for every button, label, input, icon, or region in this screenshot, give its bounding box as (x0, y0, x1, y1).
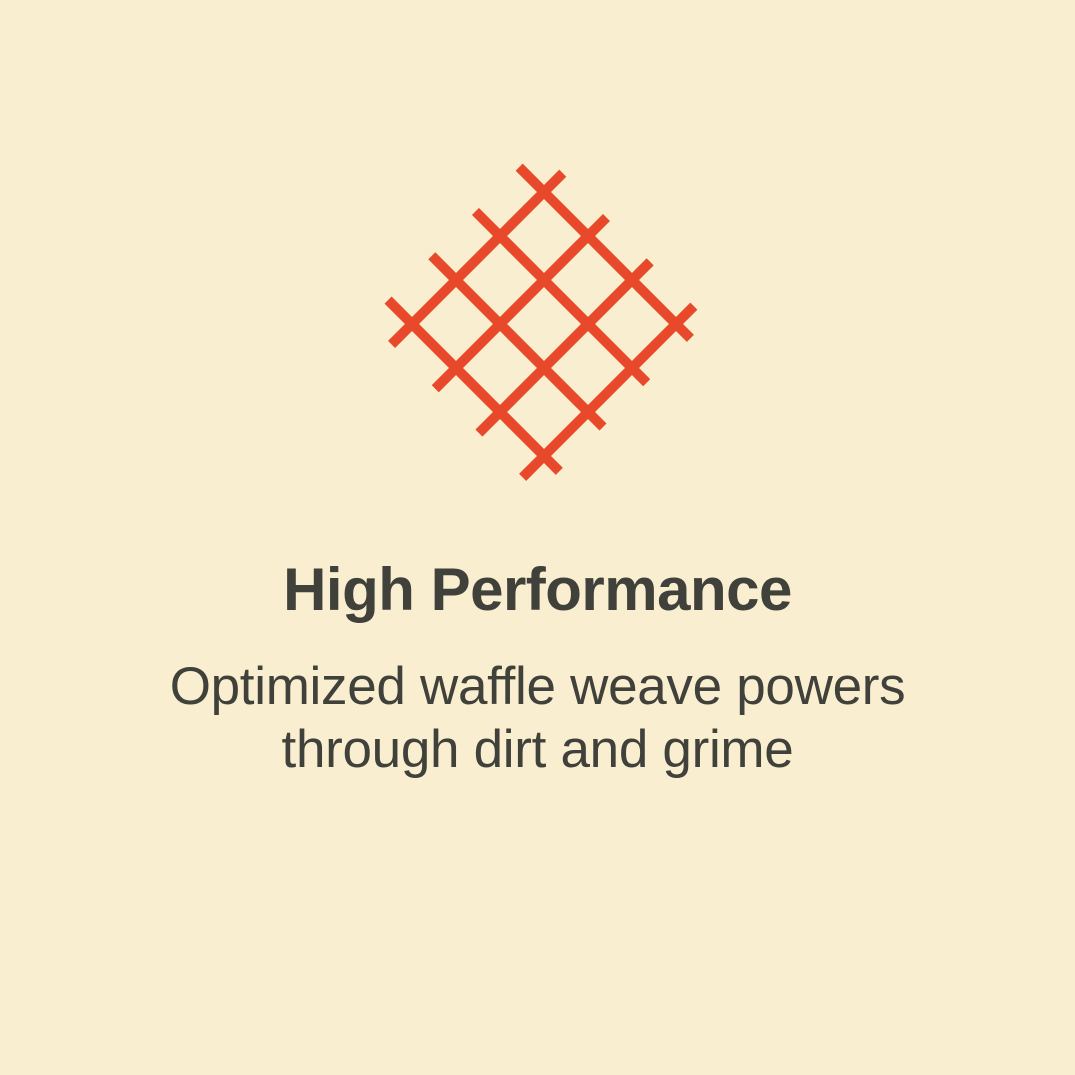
feature-subtitle: Optimized waffle weave powers through di… (123, 656, 953, 781)
waffle-weave-icon (368, 148, 708, 493)
feature-card: High Performance Optimized waffle weave … (0, 0, 1075, 1075)
feature-title: High Performance (283, 560, 792, 620)
weave-strokes (371, 151, 708, 493)
text-block: High Performance Optimized waffle weave … (0, 560, 1075, 781)
icon-container (0, 140, 1075, 500)
